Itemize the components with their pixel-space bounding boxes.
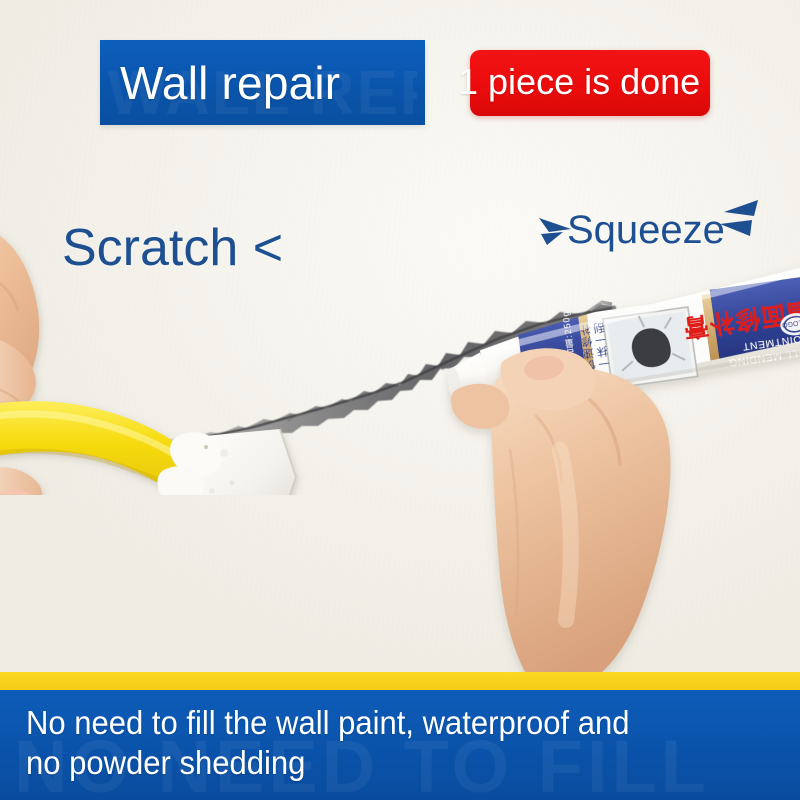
footer-banner: NO NEED TO FILL No need to fill the wall… (0, 690, 800, 800)
callout-squeeze-label: Squeeze (567, 210, 725, 250)
callout-scratch-label: Scratch < (62, 222, 283, 274)
product-ad-image: 一抹一刮 快速修补 净含量:250g WALL MENDING OINTMENT… (0, 0, 800, 800)
headline-text: Wall repair (100, 60, 340, 106)
footer-line-2: no powder shedding (26, 743, 754, 783)
footer-text: No need to fill the wall paint, waterpro… (26, 703, 754, 783)
double-triangle-left-icon (710, 196, 762, 248)
footer-line-1: No need to fill the wall paint, waterpro… (26, 704, 630, 741)
footer-yellow-stripe (0, 672, 800, 690)
headline-badge-red: 1 piece is done (470, 50, 710, 116)
headline-banner-blue: WALL REPAIR Wall repair (100, 40, 425, 125)
badge-text: 1 piece is done (458, 57, 726, 107)
hand-holding-tube: 一抹一刮 快速修补 净含量:250g WALL MENDING OINTMENT… (440, 250, 800, 690)
